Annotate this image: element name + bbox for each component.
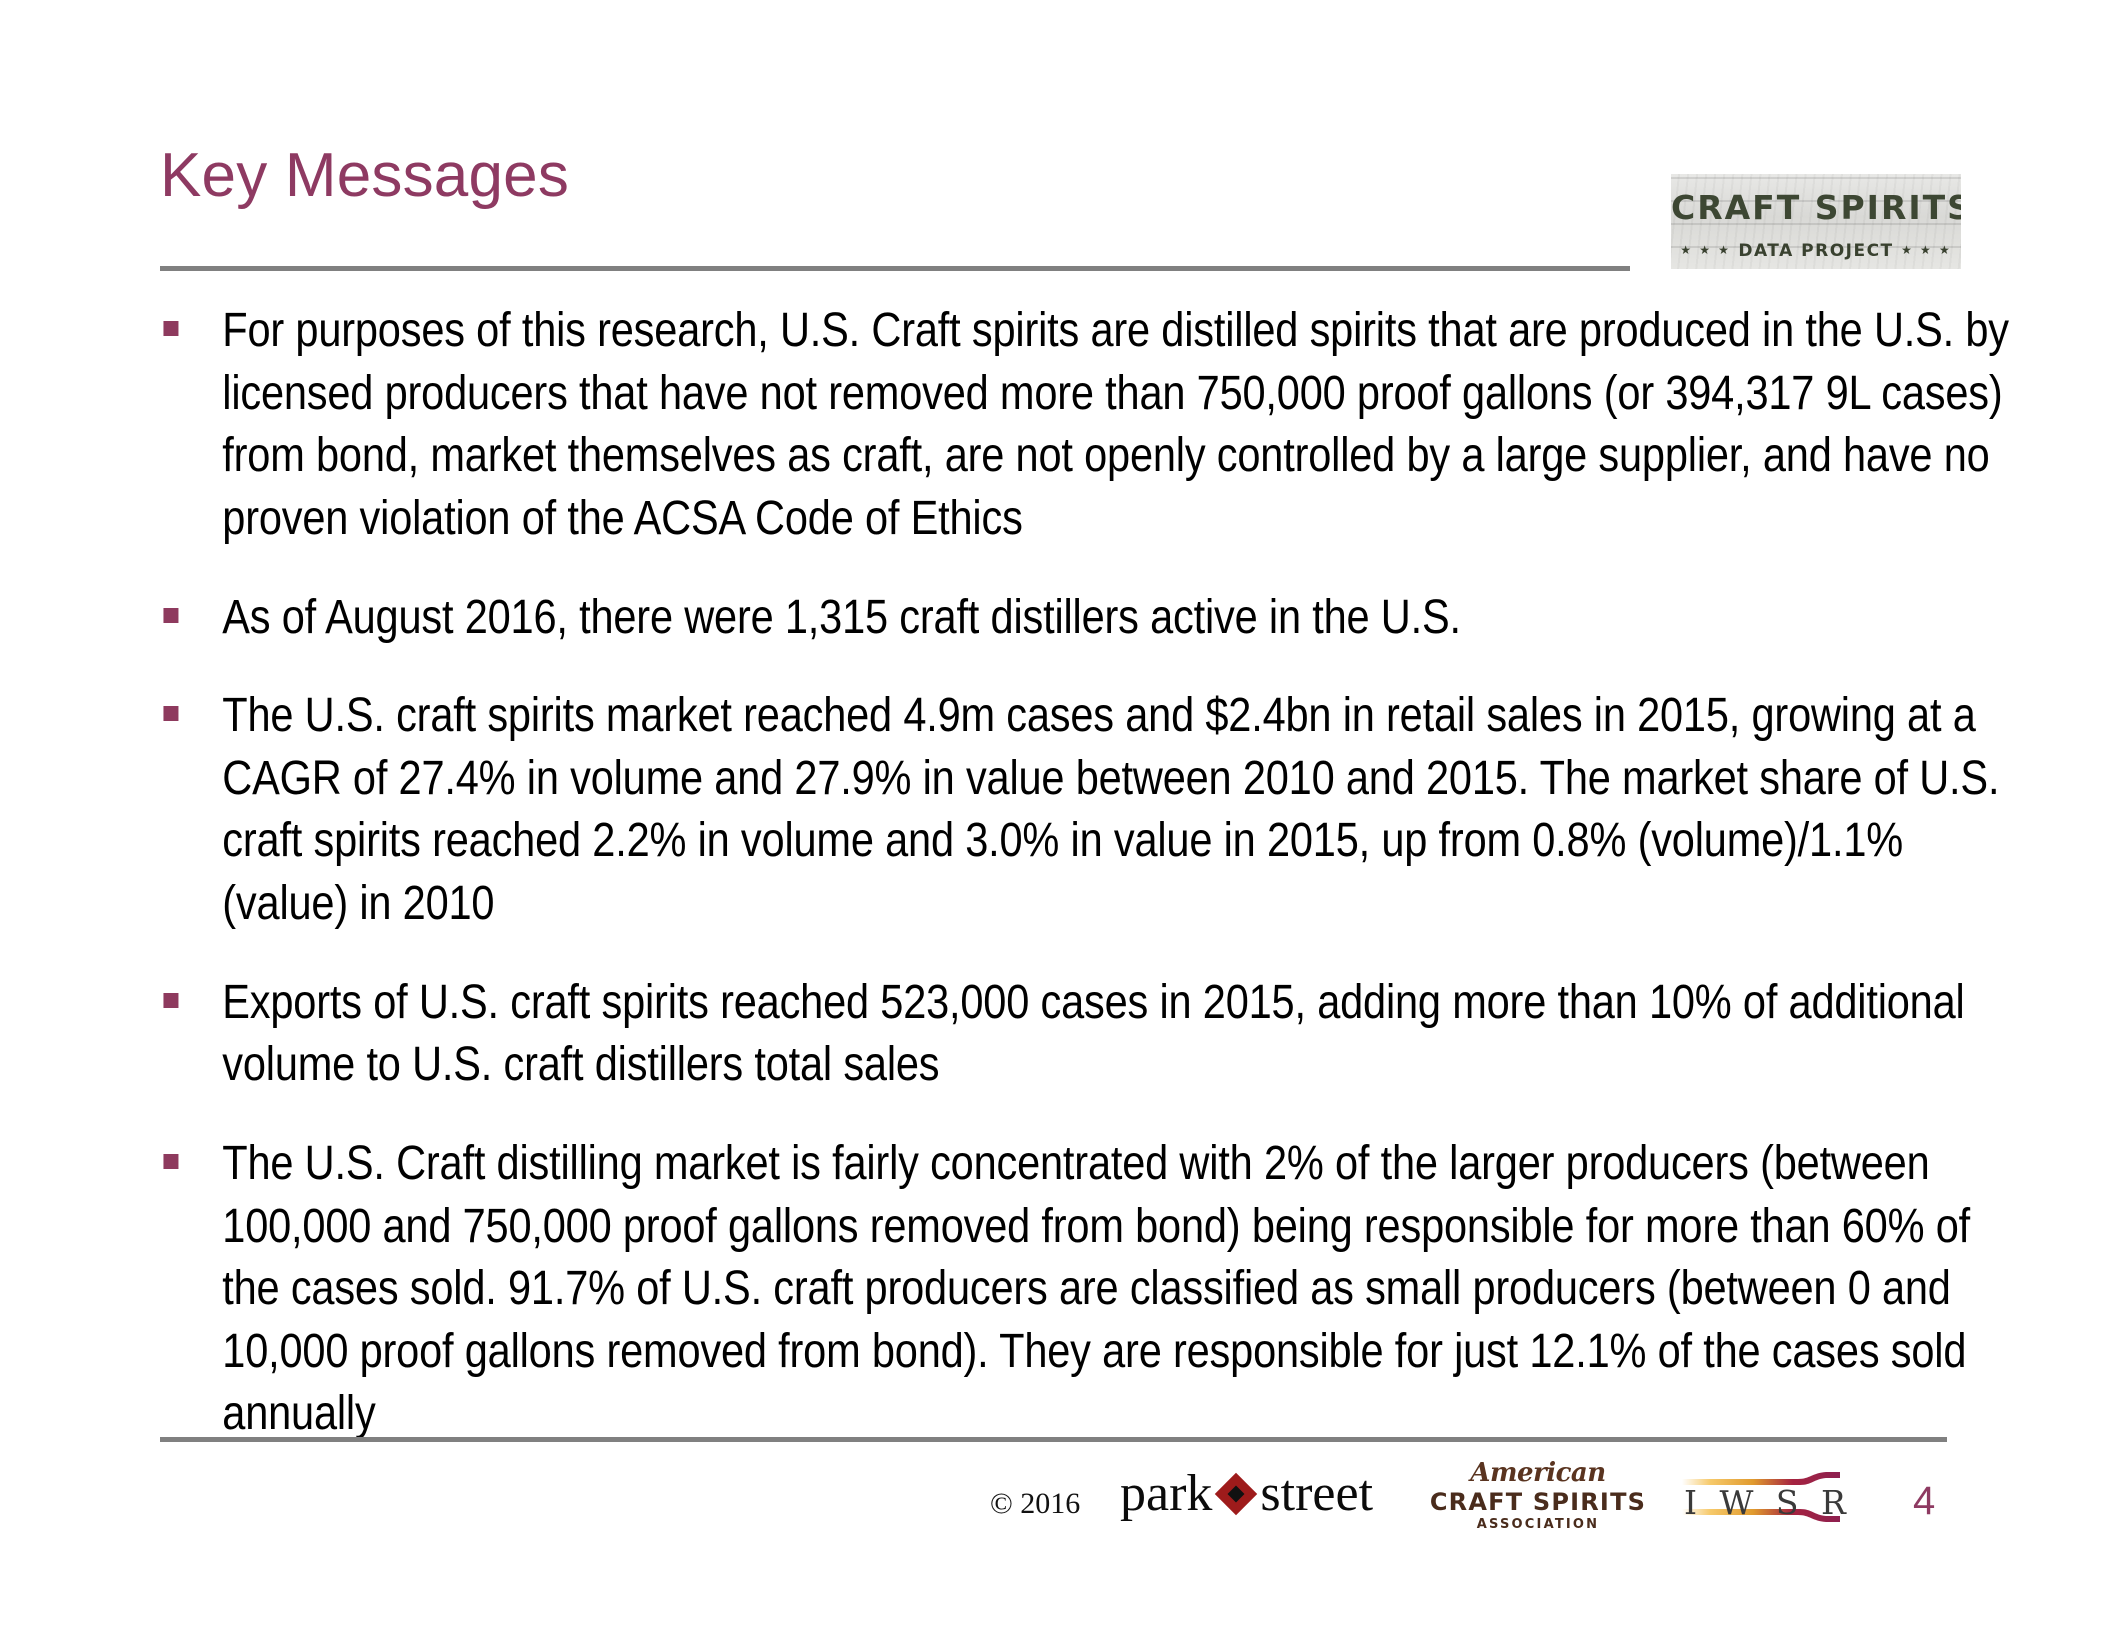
- slide: Key Messages CRAFT SPIRITS ★ ★ ★ DATA PR…: [0, 0, 2111, 1631]
- logo-line-1: CRAFT SPIRITS: [1671, 188, 1961, 227]
- list-item-text: As of August 2016, there were 1,315 craf…: [222, 587, 2021, 650]
- list-item: The U.S. Craft distilling market is fair…: [160, 1133, 2021, 1446]
- page-number: 4: [1913, 1479, 1935, 1524]
- list-item-text: Exports of U.S. craft spirits reached 52…: [222, 972, 2021, 1097]
- page-title: Key Messages: [160, 143, 569, 208]
- craft-spirits-data-project-logo: CRAFT SPIRITS ★ ★ ★ DATA PROJECT ★ ★ ★: [1671, 174, 1961, 269]
- bullet-marker-icon: [163, 706, 178, 721]
- diamond-icon: [1215, 1472, 1257, 1514]
- footer-divider: [160, 1437, 1947, 1442]
- logo-stars-right-icon: ★ ★ ★: [1901, 243, 1952, 257]
- park-street-word-1: park: [1120, 1464, 1212, 1523]
- list-item: For purposes of this research, U.S. Craf…: [160, 300, 2021, 551]
- american-craft-spirits-association-logo: American CRAFT SPIRITS ASSOCIATION: [1428, 1460, 1648, 1531]
- bullet-list: For purposes of this research, U.S. Craf…: [160, 300, 1960, 1482]
- list-item: As of August 2016, there were 1,315 craf…: [160, 587, 2021, 650]
- park-street-logo: park street: [1120, 1464, 1373, 1523]
- list-item-text: For purposes of this research, U.S. Craf…: [222, 300, 2021, 551]
- list-item-text: The U.S. Craft distilling market is fair…: [222, 1133, 2021, 1446]
- bullet-marker-icon: [163, 608, 178, 623]
- logo-stars-left-icon: ★ ★ ★: [1680, 243, 1731, 257]
- list-item: Exports of U.S. craft spirits reached 52…: [160, 972, 2021, 1097]
- park-street-word-2: street: [1260, 1464, 1373, 1523]
- logo-line-1-text: CRAFT SPIRITS: [1671, 188, 1961, 227]
- bullet-marker-icon: [163, 321, 178, 336]
- list-item: The U.S. craft spirits market reached 4.…: [160, 685, 2021, 936]
- list-item-text: The U.S. craft spirits market reached 4.…: [222, 685, 2021, 936]
- footer: © 2016 park street American CRAFT SPIRIT…: [160, 1455, 1960, 1565]
- acsa-sub-text: ASSOCIATION: [1428, 1518, 1648, 1531]
- bullet-marker-icon: [163, 993, 178, 1008]
- title-divider: [160, 266, 1630, 271]
- acsa-main-text: CRAFT SPIRITS: [1428, 1490, 1648, 1514]
- bullet-marker-icon: [163, 1154, 178, 1169]
- logo-line-2: ★ ★ ★ DATA PROJECT ★ ★ ★: [1671, 241, 1961, 261]
- logo-line-2-text: DATA PROJECT: [1738, 241, 1893, 261]
- iwsr-text: I W S R: [1684, 1483, 1852, 1522]
- iwsr-logo: I W S R: [1680, 1469, 1900, 1531]
- acsa-script-text: American: [1428, 1460, 1648, 1486]
- copyright-text: © 2016: [990, 1487, 1080, 1521]
